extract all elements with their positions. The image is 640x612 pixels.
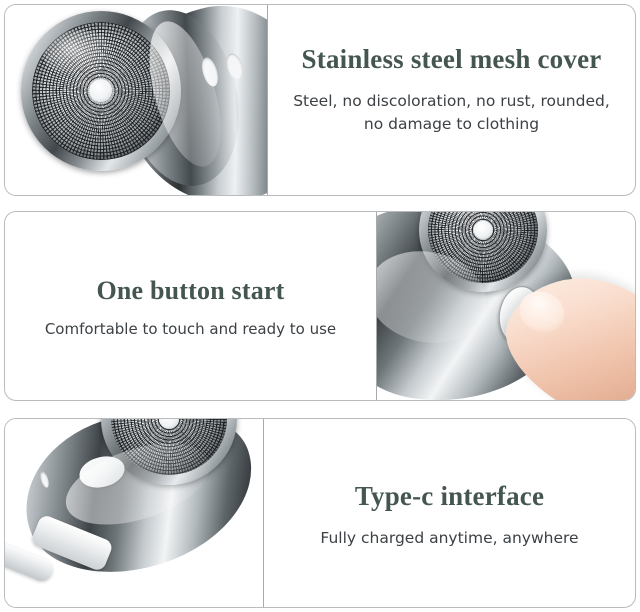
panel-1-subline: Steel, no discoloration, no rust, rounde… <box>282 90 622 136</box>
panel-3-text-area: Type-c interface Fully charged anytime, … <box>264 419 635 607</box>
mesh-foil-head-icon <box>21 11 181 171</box>
foil-center-hub <box>474 221 493 239</box>
feature-panel-type-c-interface: Type-c interface Fully charged anytime, … <box>4 418 636 608</box>
panel-2-subline: Comfortable to touch and ready to use <box>45 318 336 340</box>
panel-2-image-area <box>377 212 635 400</box>
button-press-photo <box>377 212 635 400</box>
stainless-steel-mesh-foil <box>32 22 170 160</box>
product-feature-infographic: Stainless steel mesh cover Steel, no dis… <box>0 0 640 612</box>
foil-highlight <box>43 30 115 77</box>
foil-center-hub <box>89 79 112 102</box>
foil-highlight <box>437 212 494 219</box>
panel-1-headline: Stainless steel mesh cover <box>302 42 602 76</box>
panel-2-text-area: One button start Comfortable to touch an… <box>5 212 376 400</box>
usb-c-charging-photo <box>5 419 263 607</box>
panel-2-headline: One button start <box>96 274 284 308</box>
shaver-mesh-head-photo <box>5 5 267 195</box>
foil-center-hub <box>159 419 179 429</box>
panel-1-image-area <box>5 5 267 195</box>
panel-3-image-area <box>5 419 263 607</box>
panel-3-headline: Type-c interface <box>355 479 544 513</box>
feature-panel-one-button-start: One button start Comfortable to touch an… <box>4 211 636 401</box>
feature-panel-mesh-cover: Stainless steel mesh cover Steel, no dis… <box>4 4 636 196</box>
panel-1-text-area: Stainless steel mesh cover Steel, no dis… <box>268 5 635 195</box>
panel-3-subline: Fully charged anytime, anywhere <box>320 527 578 549</box>
